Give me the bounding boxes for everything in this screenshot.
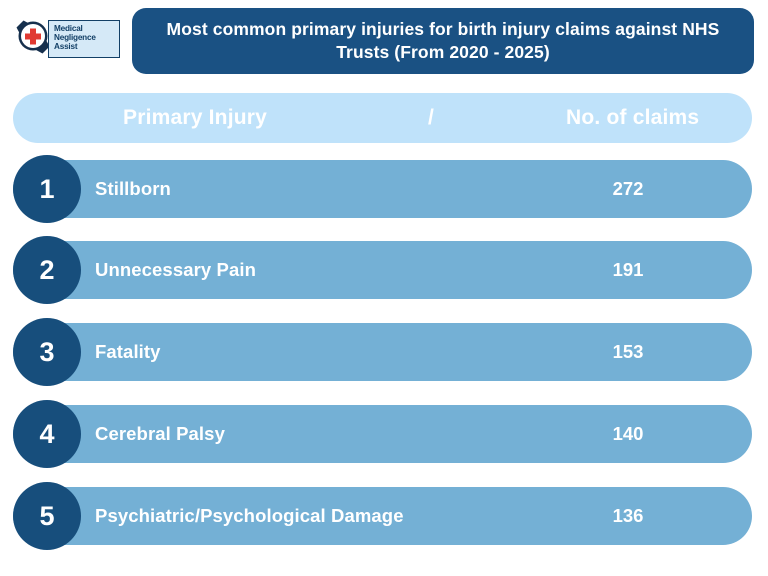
row-injury-label: Stillborn [95,178,171,200]
row-claims-value: 153 [573,341,683,363]
table-row: 4 Cerebral Palsy 140 [13,405,752,463]
rank-badge: 5 [13,482,81,550]
rank-number: 5 [39,503,54,530]
table-row: 1 Stillborn 272 [13,160,752,218]
row-injury-label: Unnecessary Pain [95,259,256,281]
rank-badge: 3 [13,318,81,386]
rank-badge: 1 [13,155,81,223]
table-row: 2 Unnecessary Pain 191 [13,241,752,299]
row-injury-label: Psychiatric/Psychological Damage [95,505,404,527]
rank-number: 2 [39,257,54,284]
row-claims-value: 191 [573,259,683,281]
rank-badge: 4 [13,400,81,468]
rank-number: 3 [39,339,54,366]
row-claims-value: 136 [573,505,683,527]
row-injury-label: Cerebral Palsy [95,423,225,445]
rank-number: 1 [39,176,54,203]
table-body: 1 Stillborn 272 2 Unnecessary Pain 191 3… [0,0,768,576]
rank-badge: 2 [13,236,81,304]
table-row: 3 Fatality 153 [13,323,752,381]
row-claims-value: 272 [573,178,683,200]
rank-number: 4 [39,421,54,448]
table-row: 5 Psychiatric/Psychological Damage 136 [13,487,752,545]
row-injury-label: Fatality [95,341,161,363]
row-claims-value: 140 [573,423,683,445]
